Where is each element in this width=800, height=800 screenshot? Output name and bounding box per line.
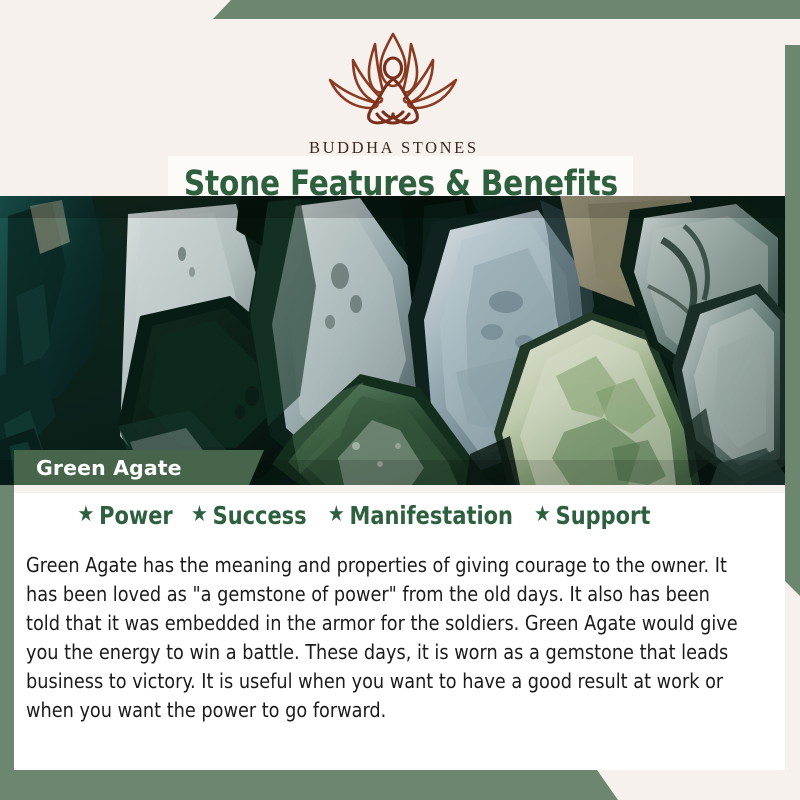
benefit-label: Support bbox=[555, 501, 650, 530]
frame-left-bar bbox=[0, 463, 14, 771]
green-agate-photo bbox=[0, 196, 785, 485]
stone-description: Green Agate has the meaning and properti… bbox=[26, 551, 744, 725]
benefit-label: Power bbox=[99, 501, 173, 530]
content-panel: ★ Power ★ Success ★ Manifestation ★ Supp… bbox=[14, 485, 785, 770]
brand-logo: BUDDHA STONES bbox=[0, 28, 785, 158]
benefit-item-manifestation: ★ Manifestation bbox=[328, 501, 513, 530]
stone-description-text: Green Agate has the meaning and properti… bbox=[26, 551, 744, 725]
lotus-meditation-icon bbox=[0, 28, 785, 137]
star-icon: ★ bbox=[534, 504, 551, 526]
star-icon: ★ bbox=[328, 504, 345, 526]
brand-name: BUDDHA STONES bbox=[0, 138, 785, 158]
star-icon: ★ bbox=[77, 504, 94, 526]
benefit-item-support: ★ Support bbox=[534, 501, 650, 530]
stone-name: Green Agate bbox=[14, 456, 182, 480]
frame-top-bar bbox=[0, 0, 800, 19]
star-icon: ★ bbox=[191, 504, 208, 526]
stone-name-banner: Green Agate bbox=[14, 450, 264, 485]
benefit-item-success: ★ Success bbox=[191, 501, 307, 530]
benefit-item-power: ★ Power bbox=[77, 501, 172, 530]
poster-header: BUDDHA STONES Stone Features & Benefits bbox=[0, 19, 785, 196]
benefit-label: Manifestation bbox=[349, 501, 512, 530]
stone-info-poster: BUDDHA STONES Stone Features & Benefits bbox=[0, 0, 800, 800]
frame-right-bar bbox=[785, 0, 800, 596]
frame-bottom-bar bbox=[0, 770, 800, 800]
benefits-list: ★ Power ★ Success ★ Manifestation ★ Supp… bbox=[14, 501, 714, 530]
benefit-label: Success bbox=[213, 501, 307, 530]
panel-top-strip bbox=[14, 485, 785, 493]
